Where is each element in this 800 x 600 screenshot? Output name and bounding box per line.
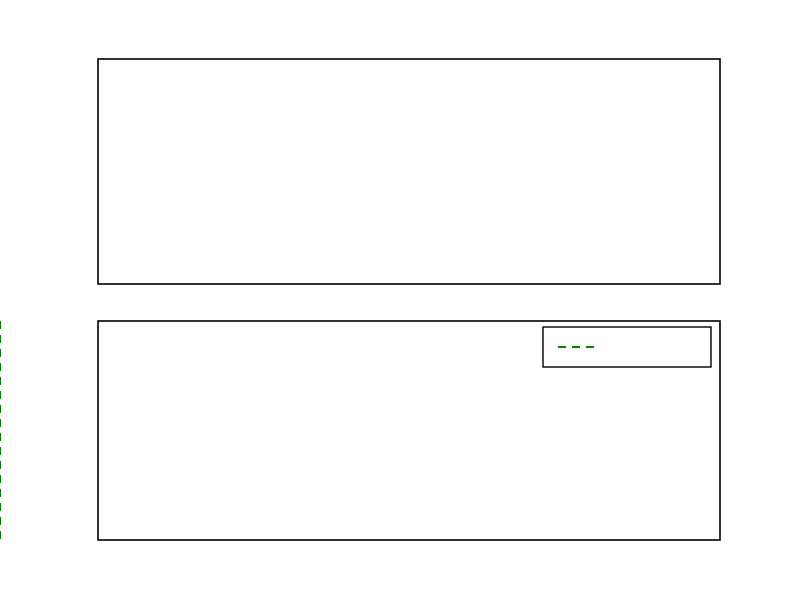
legend-box (543, 327, 711, 367)
bottom-axes-cumulative (0, 321, 720, 540)
matplotlib-figure (0, 0, 800, 600)
figure-canvas (0, 0, 800, 600)
top-axes-histogram (98, 59, 720, 284)
legend[interactable] (543, 327, 711, 367)
top-plot-area (98, 59, 720, 284)
